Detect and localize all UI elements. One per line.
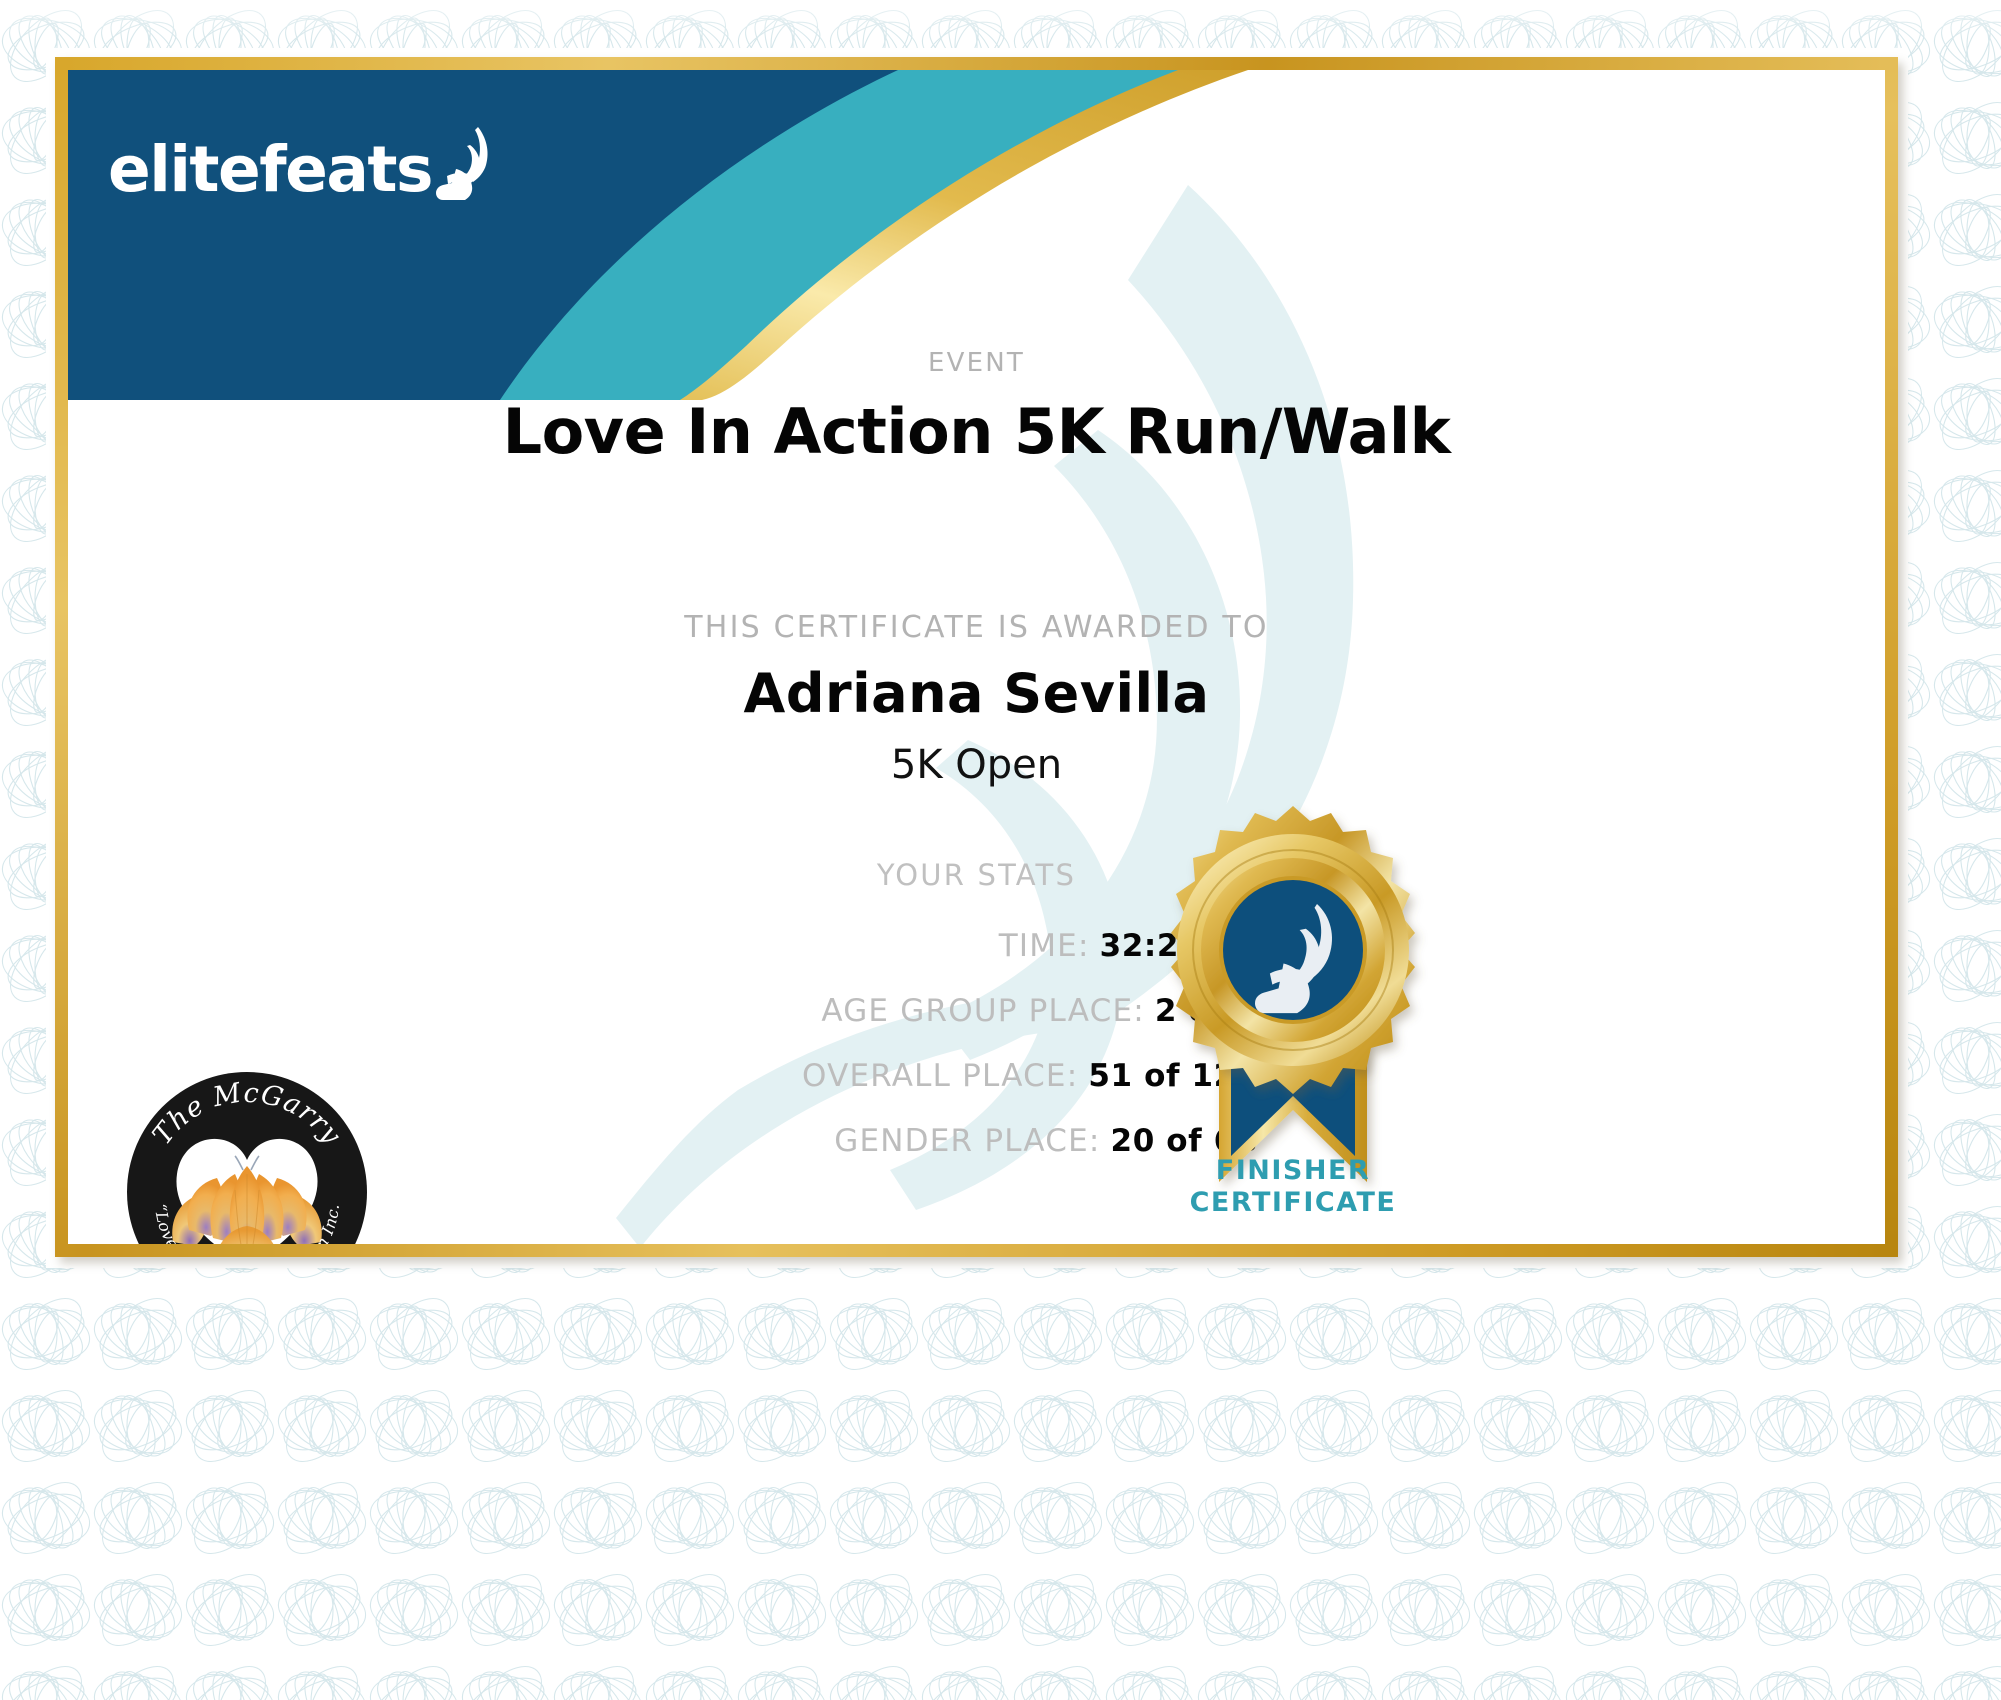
stat-key: TIME: [999, 928, 1090, 964]
certificate-page: elitefeats EVENT Love In Action 5K Run/W… [0, 0, 2001, 1700]
stat-row-time: TIME: 32:25.00 [358, 928, 1258, 993]
badge-caption-line1: FINISHER [1128, 1155, 1458, 1187]
your-stats-label: YOUR STATS [68, 858, 1885, 892]
badge-caption-line2: CERTIFICATE [1128, 1187, 1458, 1219]
division-name: 5K Open [68, 742, 1885, 788]
recipient-name: Adriana Sevilla [68, 662, 1885, 725]
stat-row-age-group-place: AGE GROUP PLACE: 2 of 5 [358, 993, 1258, 1058]
stat-row-gender-place: GENDER PLACE: 20 of 68 [358, 1123, 1258, 1188]
certificate-body: elitefeats EVENT Love In Action 5K Run/W… [68, 70, 1885, 1244]
certificate-content: EVENT Love In Action 5K Run/Walk THIS CE… [68, 70, 1885, 1244]
event-name: Love In Action 5K Run/Walk [68, 395, 1885, 468]
stat-key: GENDER PLACE: [834, 1123, 1100, 1159]
sponsor-logo-mcgarry-love-in-action: The McGarry “Love In Action” Foundation … [125, 1070, 369, 1244]
event-label: EVENT [68, 348, 1885, 378]
stats-table: TIME: 32:25.00 AGE GROUP PLACE: 2 of 5 O… [358, 928, 1258, 1188]
awarded-to-label: THIS CERTIFICATE IS AWARDED TO [68, 610, 1885, 645]
stat-row-overall-place: OVERALL PLACE: 51 of 121 [358, 1058, 1258, 1123]
stat-key: AGE GROUP PLACE: [821, 993, 1145, 1029]
stat-key: OVERALL PLACE: [802, 1058, 1078, 1094]
finisher-badge-caption: FINISHER CERTIFICATE [1128, 1155, 1458, 1219]
